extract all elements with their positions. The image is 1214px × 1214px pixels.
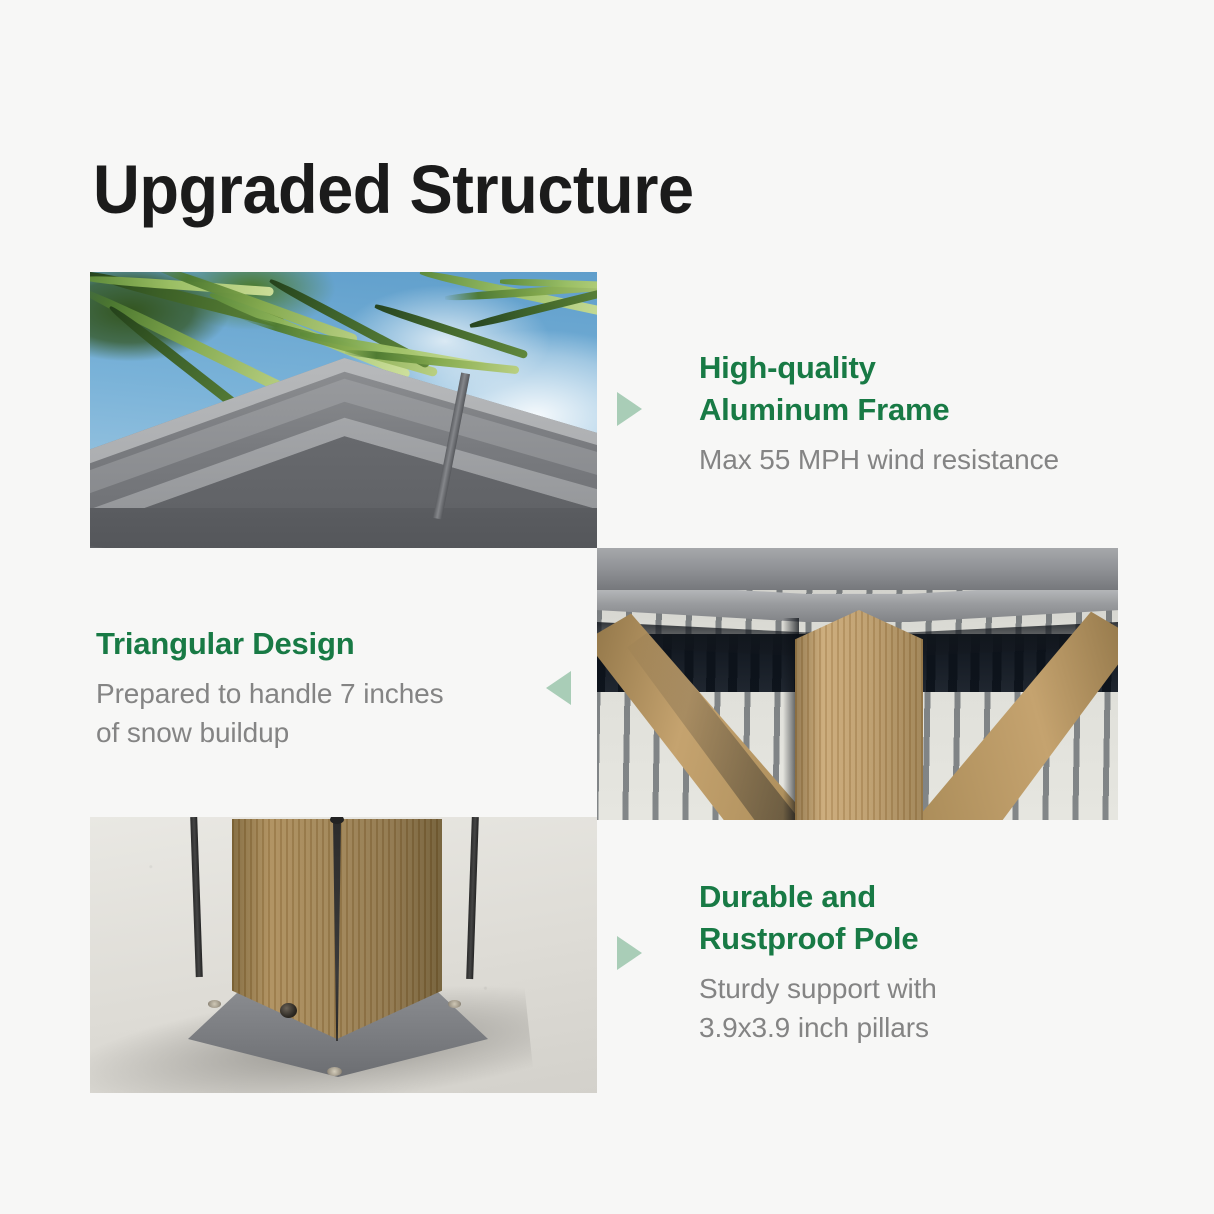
photo-aluminum-frame	[90, 272, 597, 548]
feature-description: Max 55 MPH wind resistance	[699, 440, 1059, 479]
feature-description: Sturdy support with 3.9x3.9 inch pillars	[699, 969, 937, 1047]
feature-title: Durable and Rustproof Pole	[699, 876, 937, 960]
feature-durable-and-rustproof-pole: Durable and Rustproof Pole Sturdy suppor…	[699, 876, 937, 1047]
photo-triangular-design	[597, 548, 1118, 820]
anchor-hole	[327, 1067, 342, 1076]
page-title: Upgraded Structure	[93, 150, 694, 230]
photo-rustproof-pole	[90, 817, 597, 1093]
triangle-right-icon	[617, 392, 642, 426]
feature-title: Triangular Design	[96, 623, 444, 665]
triangle-left-icon	[546, 671, 571, 705]
infographic-page: Upgraded Structure	[0, 0, 1214, 1214]
wood-corner-post	[795, 610, 923, 820]
feature-high-quality-aluminum-frame: High-quality Aluminum Frame Max 55 MPH w…	[699, 347, 1059, 479]
roof-beam	[597, 548, 1118, 590]
roof-underside	[90, 508, 597, 548]
feature-title: High-quality Aluminum Frame	[699, 347, 1059, 431]
feature-triangular-design: Triangular Design Prepared to handle 7 i…	[96, 623, 444, 752]
anchor-hole	[208, 1000, 221, 1008]
triangle-right-icon	[617, 936, 642, 970]
anchor-hole	[448, 1000, 461, 1008]
feature-description: Prepared to handle 7 inches of snow buil…	[96, 674, 444, 752]
anchor-bolt-icon	[280, 1003, 297, 1018]
